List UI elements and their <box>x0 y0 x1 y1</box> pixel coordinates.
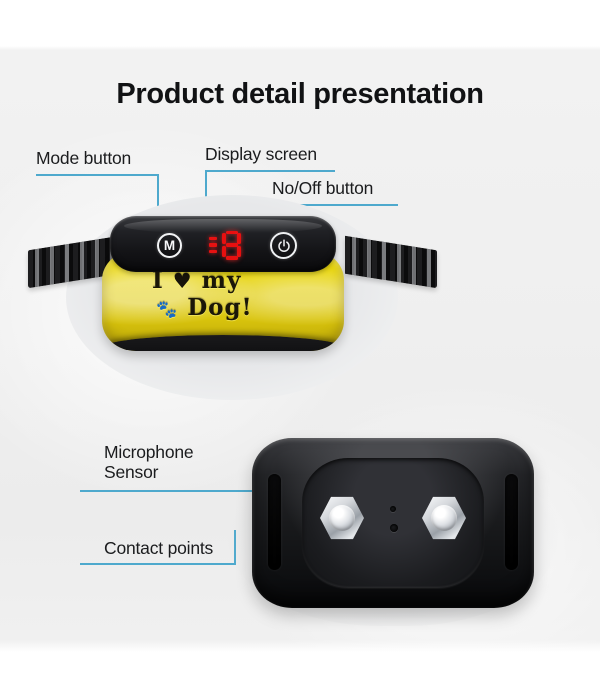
contact-plate <box>302 458 484 588</box>
mode-button[interactable]: M <box>157 233 182 258</box>
strap-slot-right <box>505 474 518 570</box>
microphone-hole-lower <box>390 524 398 532</box>
leader-line-horizontal <box>205 170 335 172</box>
back-unit-product-photo <box>0 420 600 650</box>
paw-print-icon: 🐾 <box>156 300 178 320</box>
collar-product-photo: I ♥ my 🐾 Dog! M <box>0 190 600 420</box>
segment-f <box>222 233 226 244</box>
page-title: Product detail presentation <box>0 78 600 111</box>
segment-c <box>237 246 241 257</box>
callout-mode-button: Mode button <box>36 148 131 168</box>
callout-mode-button-label: Mode button <box>36 148 131 168</box>
power-button[interactable] <box>270 232 297 259</box>
led-level-bars <box>209 237 217 253</box>
segment-b <box>237 233 241 244</box>
callout-display-screen: Display screen <box>205 144 317 164</box>
collar-control-panel: M <box>110 216 336 272</box>
segment-a <box>226 231 238 235</box>
callout-display-screen-label: Display screen <box>205 144 317 164</box>
contact-point-right <box>422 496 466 540</box>
segment-d <box>226 256 238 260</box>
led-bar <box>209 250 217 253</box>
contact-point-left <box>320 496 364 540</box>
led-seven-segment-digit <box>222 231 241 260</box>
collar-device: I ♥ my 🐾 Dog! M <box>102 216 344 351</box>
segment-e <box>222 246 226 257</box>
collar-embossed-text: I ♥ my 🐾 Dog! <box>152 268 302 330</box>
product-detail-page: Product detail presentation Mode button … <box>0 0 600 700</box>
led-bar <box>209 237 217 240</box>
microphone-hole-upper <box>390 506 396 512</box>
display-screen <box>209 228 259 262</box>
strap-slot-left <box>268 474 281 570</box>
power-icon <box>276 238 291 253</box>
prong-cap <box>431 505 457 531</box>
mode-button-glyph: M <box>164 239 175 253</box>
prong-cap <box>329 505 355 531</box>
leader-line-horizontal <box>36 174 159 176</box>
segment-g <box>226 243 238 247</box>
led-bar <box>209 243 217 246</box>
emboss-word-dog: Dog! <box>187 294 252 321</box>
receiver-back-housing <box>252 438 534 608</box>
